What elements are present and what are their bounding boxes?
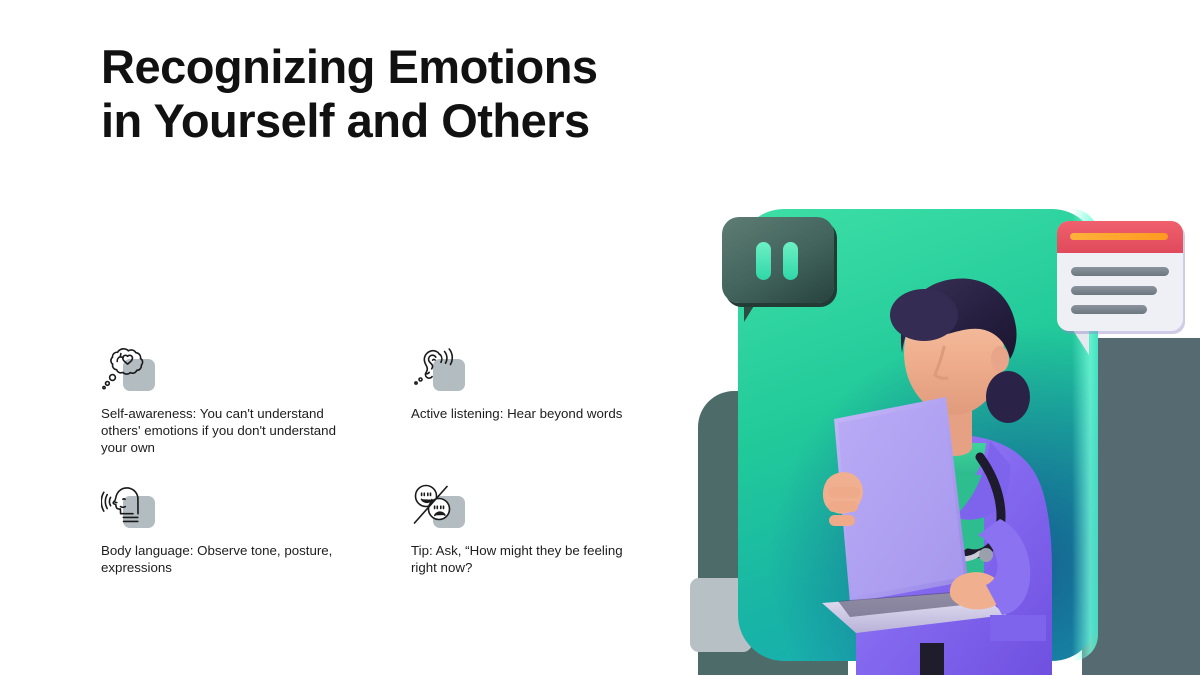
bubble-body — [722, 217, 834, 303]
bubble-bar-2 — [783, 242, 798, 280]
slide-canvas: Recognizing Emotions in Yourself and Oth… — [0, 0, 1200, 675]
feature-item-active-listening: Active listening: Hear beyond words — [411, 345, 651, 482]
ear-listening-icon — [411, 345, 469, 397]
coat-pocket — [990, 615, 1046, 641]
happy-sad-faces-glyph — [411, 482, 463, 530]
speaking-head-profile-glyph — [101, 482, 153, 530]
bubble-text-line-1 — [1071, 267, 1169, 276]
feature-item-body-language: Body language: Observe tone, posture, ex… — [101, 482, 411, 576]
thought-bubble-heart-icon — [101, 345, 159, 397]
bubble-body — [1057, 221, 1183, 331]
feature-item-self-awareness: Self-awareness: You can't understand oth… — [101, 345, 411, 482]
feature-item-label: Body language: Observe tone, posture, ex… — [101, 542, 353, 576]
bubble-text-line-2 — [1071, 286, 1157, 295]
page-title: Recognizing Emotions in Yourself and Oth… — [101, 40, 721, 148]
hair-bun — [986, 371, 1030, 423]
bubble-header-accent-bar — [1070, 233, 1168, 240]
feature-list: Self-awareness: You can't understand oth… — [101, 345, 671, 576]
feature-item-label: Self-awareness: You can't understand oth… — [101, 405, 353, 456]
feature-item-tip: Tip: Ask, “How might they be feeling rig… — [411, 482, 651, 576]
speaking-head-profile-icon — [101, 482, 159, 534]
bubble-bar-1 — [756, 242, 771, 280]
thought-bubble-heart-glyph — [101, 345, 153, 393]
document-message-bubble — [1057, 221, 1183, 331]
feature-item-label: Active listening: Hear beyond words — [411, 405, 651, 422]
feature-item-label: Tip: Ask, “How might they be feeling rig… — [411, 542, 651, 576]
3d-doctor-with-laptop-illustration — [676, 195, 1200, 675]
pause-message-bubble — [722, 217, 834, 303]
bubble-header — [1057, 221, 1183, 253]
bubble-text-line-3 — [1071, 305, 1147, 314]
ear-listening-glyph — [411, 345, 463, 393]
bubble-tail — [1071, 327, 1089, 355]
happy-sad-faces-icon — [411, 482, 469, 534]
